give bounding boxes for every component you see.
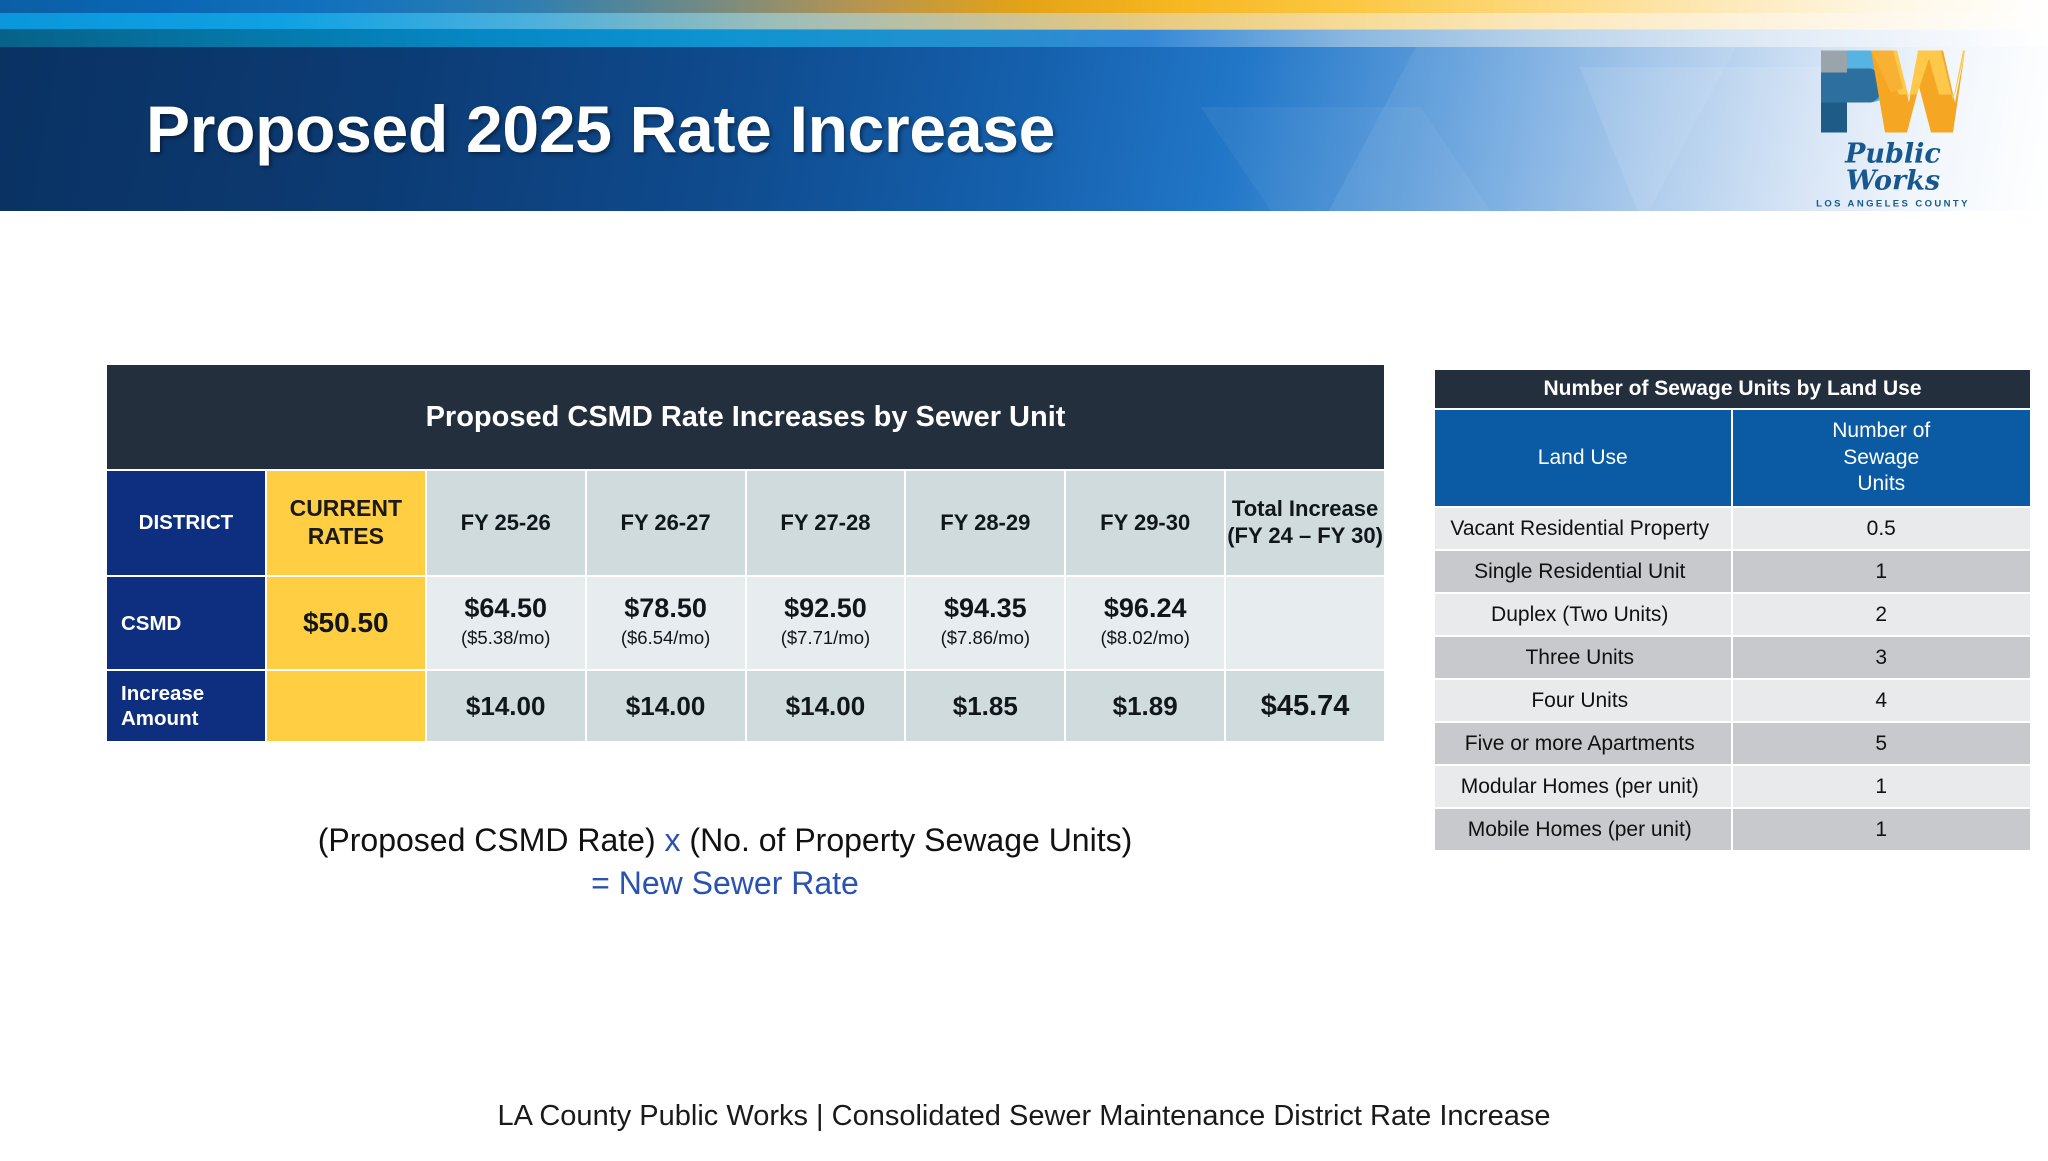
total-increase-line1: Total Increase [1232,496,1378,521]
table-row: Duplex (Two Units) 2 [1435,594,2030,635]
rate-amount: $64.50 [427,594,585,624]
units-header-line2: Sewage [1843,446,1919,469]
csmd-rate-fy-28-29: $94.35 ($7.86/mo) [906,577,1064,669]
sewage-units-value: 1 [1733,809,2031,850]
units-table-header-row: Land Use Number of Sewage Units [1435,410,2030,506]
land-use-label: Vacant Residential Property [1435,508,1733,549]
csmd-rate-fy-27-28: $92.50 ($7.71/mo) [747,577,905,669]
logo-subtitle-text: LOS ANGELES COUNTY [1813,199,1973,210]
sewage-units-value: 3 [1733,637,2031,678]
rate-monthly: ($7.86/mo) [906,624,1064,652]
table-row: Five or more Apartments 5 [1435,723,2030,764]
table-title-row: Proposed CSMD Rate Increases by Sewer Un… [107,365,1384,469]
increase-label-line2: Amount [121,707,198,730]
units-header-line3: Units [1857,472,1905,495]
increase-fy-27-28: $14.00 [747,671,905,741]
public-works-logo: Public Works LOS ANGELES COUNTY [1813,49,1973,210]
table-row: Modular Homes (per unit) 1 [1435,766,2030,807]
slide-title-banner: Proposed 2025 Rate Increase Public Works… [0,47,2048,211]
gradient-band-light [0,13,2048,29]
csmd-rate-fy-29-30: $96.24 ($8.02/mo) [1066,577,1224,669]
table-header-row: DISTRICT CURRENT RATES FY 25-26 FY 26-27… [107,471,1384,575]
column-header-fy-28-29: FY 28-29 [906,471,1064,575]
rate-amount: $96.24 [1066,594,1224,624]
increase-total: $45.74 [1226,671,1384,741]
table-row: Vacant Residential Property 0.5 [1435,508,2030,549]
land-use-label: Four Units [1435,680,1733,721]
banner-facet-shape [1299,47,1757,211]
land-use-label: Duplex (Two Units) [1435,594,1733,635]
formula-result: = New Sewer Rate [105,862,1345,905]
formula-part2: (No. of Property Sewage Units) [681,822,1133,858]
units-table-title-row: Number of Sewage Units by Land Use [1435,370,2030,408]
table-row: Mobile Homes (per unit) 1 [1435,809,2030,850]
logo-script-text: Public Works [1813,141,1973,195]
csmd-total-blank [1226,577,1384,669]
column-header-fy-25-26: FY 25-26 [427,471,585,575]
sewage-units-table: Number of Sewage Units by Land Use Land … [1435,368,2030,852]
table-row: Three Units 3 [1435,637,2030,678]
column-header-number-of-sewage-units: Number of Sewage Units [1733,410,2031,506]
sewage-units-value: 2 [1733,594,2031,635]
land-use-label: Three Units [1435,637,1733,678]
sewage-units-value: 1 [1733,766,2031,807]
sewage-units-value: 1 [1733,551,2031,592]
csmd-rate-fy-26-27: $78.50 ($6.54/mo) [587,577,745,669]
rate-amount: $92.50 [747,594,905,624]
decorative-gradient-strip [0,0,2048,47]
rate-monthly: ($6.54/mo) [587,624,745,652]
row-label-csmd: CSMD [107,577,265,669]
increase-fy-29-30: $1.89 [1066,671,1224,741]
column-header-fy-27-28: FY 27-28 [747,471,905,575]
rate-formula: (Proposed CSMD Rate) x (No. of Property … [105,819,1345,905]
increase-fy-26-27: $14.00 [587,671,745,741]
column-header-land-use: Land Use [1435,410,1733,506]
pw-monogram-icon [1813,49,1973,140]
slide-footer: LA County Public Works | Consolidated Se… [0,1100,2048,1133]
page-title: Proposed 2025 Rate Increase [146,91,1055,167]
current-rates-line1: CURRENT [290,495,402,521]
formula-multiplier: x [665,822,681,858]
land-use-label: Five or more Apartments [1435,723,1733,764]
sewage-units-value: 0.5 [1733,508,2031,549]
total-increase-line2: (FY 24 – FY 30) [1227,523,1383,548]
table-row: Single Residential Unit 1 [1435,551,2030,592]
land-use-label: Mobile Homes (per unit) [1435,809,1733,850]
column-header-total-increase: Total Increase (FY 24 – FY 30) [1226,471,1384,575]
rate-monthly: ($7.71/mo) [747,624,905,652]
column-header-district: DISTRICT [107,471,265,575]
land-use-label: Modular Homes (per unit) [1435,766,1733,807]
csmd-rate-fy-25-26: $64.50 ($5.38/mo) [427,577,585,669]
column-header-fy-29-30: FY 29-30 [1066,471,1224,575]
land-use-label: Single Residential Unit [1435,551,1733,592]
rate-table-title: Proposed CSMD Rate Increases by Sewer Un… [107,365,1384,469]
current-rates-line2: RATES [308,523,384,549]
increase-fy-28-29: $1.85 [906,671,1064,741]
table-row-increase-amount: Increase Amount $14.00 $14.00 $14.00 $1.… [107,671,1384,741]
formula-part1: (Proposed CSMD Rate) [318,822,665,858]
units-header-line1: Number of [1832,419,1930,442]
row-label-increase-amount: Increase Amount [107,671,265,741]
rate-monthly: ($8.02/mo) [1066,624,1224,652]
rate-monthly: ($5.38/mo) [427,624,585,652]
table-row-csmd: CSMD $50.50 $64.50 ($5.38/mo) $78.50 ($6… [107,577,1384,669]
table-row: Four Units 4 [1435,680,2030,721]
proposed-rate-table: Proposed CSMD Rate Increases by Sewer Un… [105,363,1386,743]
banner-facet-shape [1201,107,1556,211]
gradient-band-blue [0,30,2048,47]
column-header-current-rates: CURRENT RATES [267,471,425,575]
sewage-units-value: 4 [1733,680,2031,721]
column-header-fy-26-27: FY 26-27 [587,471,745,575]
sewage-units-value: 5 [1733,723,2031,764]
increase-current-blank [267,671,425,741]
rate-amount: $78.50 [587,594,745,624]
units-table-title: Number of Sewage Units by Land Use [1435,370,2030,408]
increase-label-line1: Increase [121,682,204,705]
rate-amount: $94.35 [906,594,1064,624]
csmd-current-rate: $50.50 [267,577,425,669]
increase-fy-25-26: $14.00 [427,671,585,741]
